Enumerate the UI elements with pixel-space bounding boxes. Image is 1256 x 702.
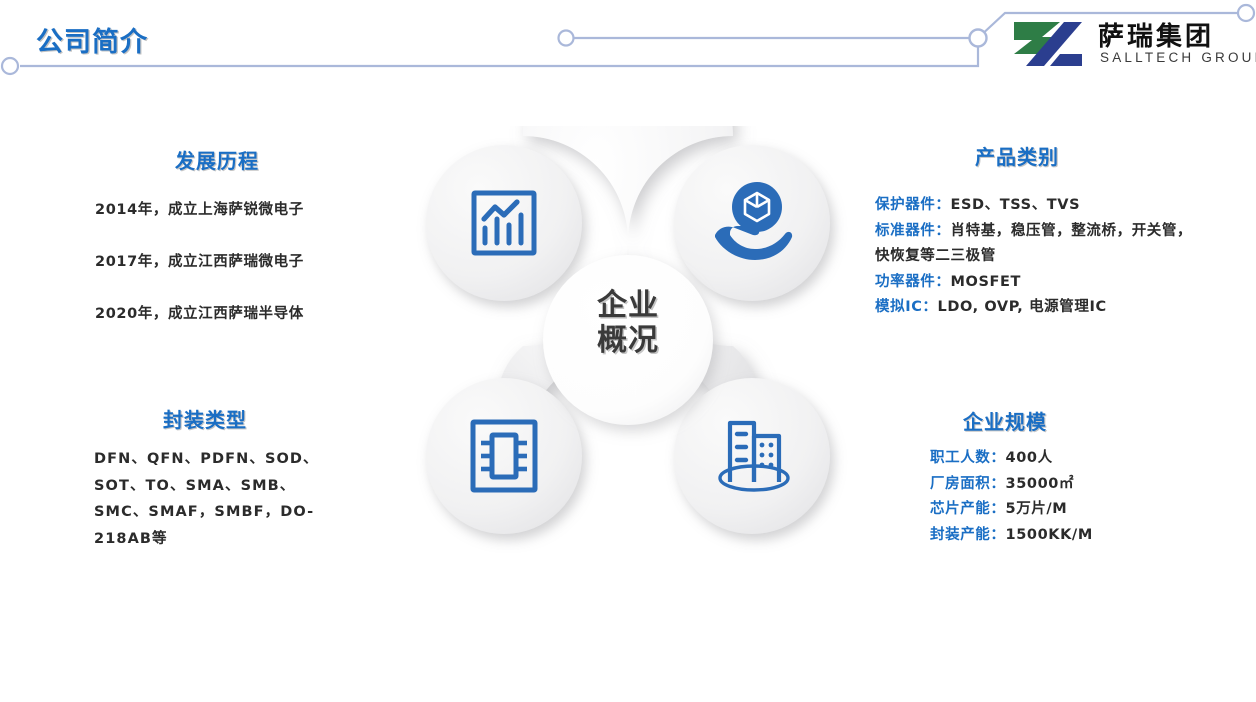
scale-item-1: 厂房面积：35000㎡ [930, 472, 1230, 498]
products-list: 保护器件：ESD、TSS、TVS 标准器件：肖特基，稳压管，整流桥，开关管，快恢… [875, 193, 1205, 321]
history-item-2: 2020年，成立江西萨瑞半导体 [95, 302, 395, 323]
packaging-text-block: DFN、QFN、PDFN、SOD、SOT、TO、SMA、SMB、SMC、SMAF… [94, 446, 342, 552]
product-label-2: 功率器件： [875, 274, 951, 290]
scale-item-2: 芯片产能：5万片/M [930, 497, 1230, 523]
logo-mark-icon [1012, 20, 1090, 68]
product-item-1: 标准器件：肖特基，稳压管，整流桥，开关管，快恢复等二三极管 [875, 219, 1205, 270]
scale-item-3: 封装产能：1500KK/M [930, 523, 1230, 549]
logo-name-en: SALLTECH GROUP [1100, 50, 1256, 65]
section-title-history: 发展历程 [175, 145, 259, 174]
center-label-line1: 企业 [576, 288, 680, 323]
history-item-1: 2017年，成立江西萨瑞微电子 [95, 250, 395, 271]
product-item-3: 模拟IC：LDO, OVP, 电源管理IC [875, 295, 1205, 321]
history-item-0: 2014年，成立上海萨锐微电子 [95, 198, 395, 219]
product-item-2: 功率器件：MOSFET [875, 270, 1205, 296]
center-label: 企业 概况 [576, 288, 680, 359]
page-title: 公司简介 [36, 20, 148, 59]
scale-label-2: 芯片产能： [930, 501, 1006, 517]
logo-name-cn: 萨瑞集团 [1098, 16, 1214, 53]
node-circle-bottom-left[interactable] [426, 378, 582, 534]
scale-value-3: 1500KK/M [1006, 527, 1093, 543]
product-item-0: 保护器件：ESD、TSS、TVS [875, 193, 1205, 219]
product-label-3: 模拟IC： [875, 299, 938, 315]
packaging-text: DFN、QFN、PDFN、SOD、SOT、TO、SMA、SMB、SMC、SMAF… [94, 446, 342, 552]
scale-list: 职工人数：400人 厂房面积：35000㎡ 芯片产能：5万片/M 封装产能：15… [930, 446, 1230, 548]
product-value-2: MOSFET [951, 274, 1022, 290]
scale-item-0: 职工人数：400人 [930, 446, 1230, 472]
section-title-products: 产品类别 [975, 141, 1059, 170]
slide-header: 公司简介 萨瑞集团 SALLTECH GROUP [0, 0, 1256, 95]
scale-label-0: 职工人数： [930, 450, 1006, 466]
node-circle-top-left[interactable] [426, 145, 582, 301]
section-title-packaging: 封装类型 [163, 404, 247, 433]
section-title-scale: 企业规模 [963, 406, 1047, 435]
center-label-line2: 概况 [576, 323, 680, 358]
scale-value-0: 400人 [1006, 450, 1053, 466]
scale-value-2: 5万片/M [1006, 501, 1068, 517]
product-label-0: 保护器件： [875, 197, 951, 213]
scale-label-1: 厂房面积： [930, 476, 1006, 492]
scale-label-3: 封装产能： [930, 527, 1006, 543]
scale-value-1: 35000㎡ [1006, 476, 1075, 492]
product-value-0: ESD、TSS、TVS [951, 197, 1081, 213]
company-logo: 萨瑞集团 SALLTECH GROUP [1012, 18, 1244, 73]
history-list: 2014年，成立上海萨锐微电子 2017年，成立江西萨瑞微电子 2020年，成立… [95, 198, 395, 323]
slide-page: 公司简介 萨瑞集团 SALLTECH GROUP 发展历程 2014年，成立上海… [0, 0, 1256, 702]
product-label-1: 标准器件： [875, 223, 951, 239]
product-value-3: LDO, OVP, 电源管理IC [938, 299, 1107, 315]
